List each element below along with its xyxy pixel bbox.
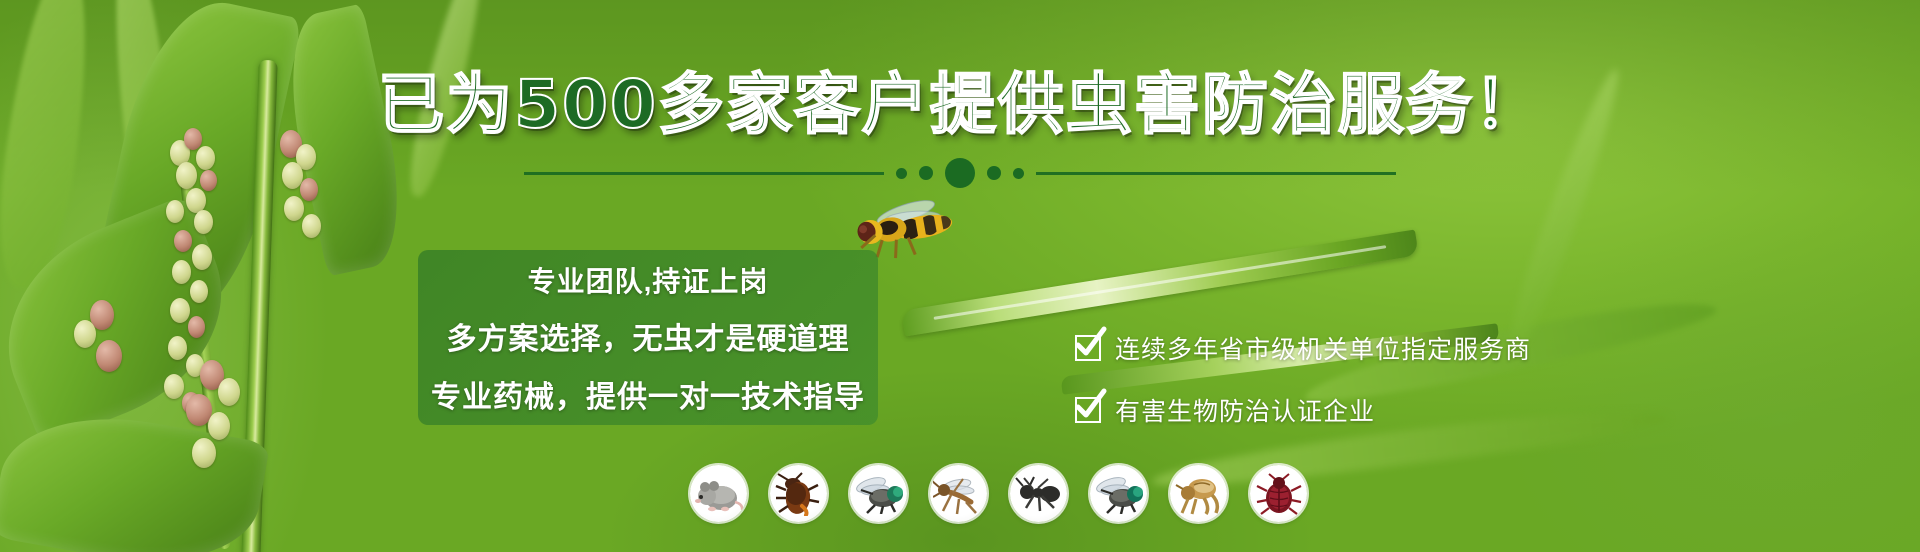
- highlights-panel-text: 专业团队,持证上岗 多方案选择，无虫才是硬道理 专业药械，提供一对一技术指导: [418, 250, 878, 425]
- ant-icon[interactable]: [1010, 465, 1067, 522]
- feature-item: 有害生物防治认证企业: [1075, 392, 1531, 428]
- decorative-divider: [0, 158, 1920, 188]
- decor-line-left: [524, 172, 884, 175]
- pest-icon-row: [690, 465, 1307, 522]
- pest-control-banner: 已为500多家客户提供虫害防治服务！ 专业团队,持证上岗 多方案选择，无虫才是硬…: [0, 0, 1920, 552]
- feature-label: 连续多年省市级机关单位指定服务商: [1115, 330, 1531, 366]
- mouse-icon[interactable]: [690, 465, 747, 522]
- feature-label: 有害生物防治认证企业: [1115, 392, 1375, 428]
- highlight-line-2: 多方案选择，无虫才是硬道理: [447, 314, 850, 358]
- checkbox-checked-icon: [1075, 335, 1101, 361]
- flea-icon[interactable]: [1170, 465, 1227, 522]
- checkbox-checked-icon: [1075, 397, 1101, 423]
- feature-list: 连续多年省市级机关单位指定服务商 有害生物防治认证企业: [1075, 330, 1531, 428]
- highlight-line-3: 专业药械，提供一对一技术指导: [431, 372, 865, 416]
- decor-line-right: [1036, 172, 1396, 175]
- blowfly-icon[interactable]: [1090, 465, 1147, 522]
- decor-dot-small: [1013, 168, 1024, 179]
- banner-headline-text: 已为500多家客户提供虫害防治服务！: [378, 72, 1542, 138]
- bedbug-icon[interactable]: [1250, 465, 1307, 522]
- banner-headline: 已为500多家客户提供虫害防治服务！: [0, 72, 1920, 138]
- highlight-line-1: 专业团队,持证上岗: [528, 260, 769, 300]
- decor-dot-medium: [987, 166, 1001, 180]
- feature-item: 连续多年省市级机关单位指定服务商: [1075, 330, 1531, 366]
- cockroach-icon[interactable]: [770, 465, 827, 522]
- fly-icon[interactable]: [850, 465, 907, 522]
- mosquito-icon[interactable]: [930, 465, 987, 522]
- decor-dot-medium: [919, 166, 933, 180]
- decor-dot-small: [896, 168, 907, 179]
- decor-dot-large: [945, 158, 975, 188]
